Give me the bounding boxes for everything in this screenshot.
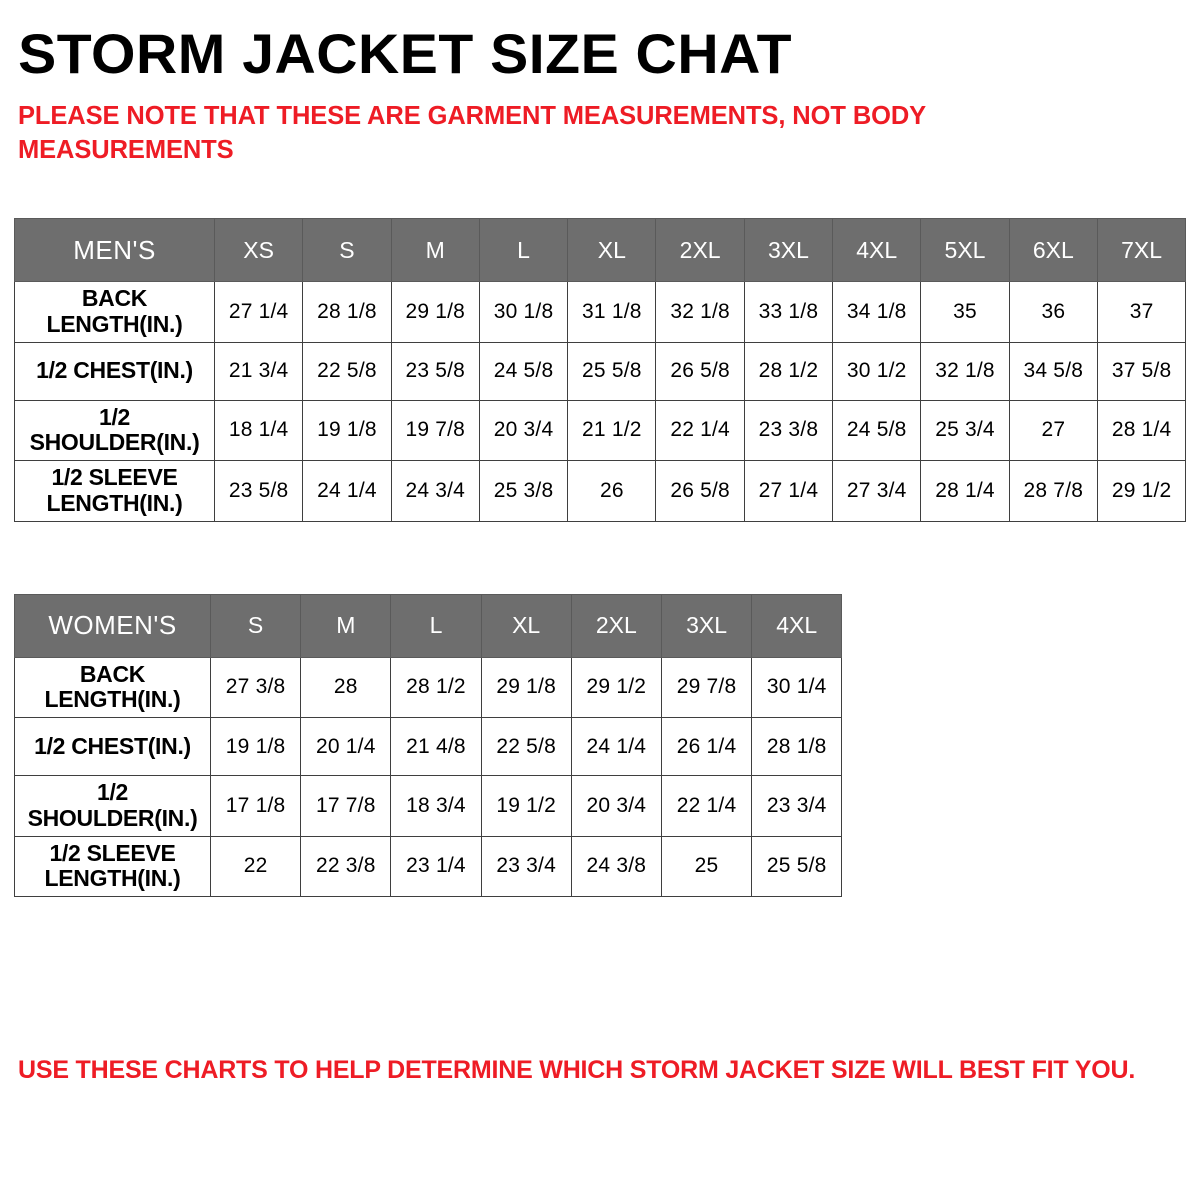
cell: 25 5/8	[752, 836, 842, 897]
cell: 36	[1009, 282, 1097, 343]
cell: 19 1/8	[211, 718, 301, 776]
cell: 29 1/2	[571, 657, 661, 718]
womens-table-body: BACK LENGTH(IN.) 27 3/8 28 28 1/2 29 1/8…	[15, 657, 842, 897]
mens-size-col-5xl: 5XL	[921, 219, 1009, 282]
mens-table-header: MEN'S XS S M L XL 2XL 3XL 4XL 5XL 6XL 7X…	[15, 219, 1186, 282]
womens-row-label-back-length: BACK LENGTH(IN.)	[15, 657, 211, 718]
womens-table-header: WOMEN'S S M L XL 2XL 3XL 4XL	[15, 594, 842, 657]
cell: 28 7/8	[1009, 461, 1097, 522]
cell: 23 3/4	[481, 836, 571, 897]
womens-row-label-half-sleeve-length: 1/2 SLEEVE LENGTH(IN.)	[15, 836, 211, 897]
row-label-line-2: LENGTH(IN.)	[45, 686, 181, 712]
footer-note: USE THESE CHARTS TO HELP DETERMINE WHICH…	[18, 1056, 1135, 1085]
table-row: 1/2 SLEEVE LENGTH(IN.) 22 22 3/8 23 1/4 …	[15, 836, 842, 897]
page-title: STORM JACKET SIZE CHAT	[14, 0, 1200, 86]
cell: 26 1/4	[661, 718, 751, 776]
table-row: BACK LENGTH(IN.) 27 1/4 28 1/8 29 1/8 30…	[15, 282, 1186, 343]
cell: 18 3/4	[391, 776, 481, 837]
cell: 24 3/4	[391, 461, 479, 522]
table-row: 1/2 SLEEVE LENGTH(IN.) 23 5/8 24 1/4 24 …	[15, 461, 1186, 522]
cell: 22 5/8	[481, 718, 571, 776]
womens-size-col-l: L	[391, 594, 481, 657]
womens-size-table: WOMEN'S S M L XL 2XL 3XL 4XL BACK LENGTH…	[14, 594, 842, 898]
cell: 31 1/8	[568, 282, 656, 343]
cell: 23 5/8	[391, 342, 479, 400]
mens-row-label-back-length: BACK LENGTH(IN.)	[15, 282, 215, 343]
cell: 19 7/8	[391, 400, 479, 461]
cell: 17 1/8	[211, 776, 301, 837]
row-label-line-1: 1/2 SLEEVE	[49, 840, 175, 866]
cell: 23 3/4	[752, 776, 842, 837]
mens-size-col-4xl: 4XL	[833, 219, 921, 282]
womens-size-col-xl: XL	[481, 594, 571, 657]
cell: 21 4/8	[391, 718, 481, 776]
womens-size-col-3xl: 3XL	[661, 594, 751, 657]
cell: 29 1/8	[481, 657, 571, 718]
cell: 29 1/8	[391, 282, 479, 343]
cell: 23 3/8	[744, 400, 832, 461]
table-row: BACK LENGTH(IN.) 27 3/8 28 28 1/2 29 1/8…	[15, 657, 842, 718]
cell: 25 3/8	[479, 461, 567, 522]
cell: 28 1/2	[391, 657, 481, 718]
cell: 20 1/4	[301, 718, 391, 776]
row-label-line-1: 1/2 SLEEVE	[51, 464, 177, 490]
mens-size-col-m: M	[391, 219, 479, 282]
cell: 28 1/4	[921, 461, 1009, 522]
cell: 27 1/4	[215, 282, 303, 343]
mens-row-label-half-chest: 1/2 CHEST(IN.)	[15, 342, 215, 400]
cell: 22 1/4	[656, 400, 744, 461]
cell: 23 5/8	[215, 461, 303, 522]
mens-row-label-half-sleeve-length: 1/2 SLEEVE LENGTH(IN.)	[15, 461, 215, 522]
cell: 28 1/8	[752, 718, 842, 776]
cell: 20 3/4	[571, 776, 661, 837]
cell: 22 5/8	[303, 342, 391, 400]
cell: 30 1/4	[752, 657, 842, 718]
cell: 28	[301, 657, 391, 718]
table-row: 1/2 CHEST(IN.) 19 1/8 20 1/4 21 4/8 22 5…	[15, 718, 842, 776]
cell: 28 1/8	[303, 282, 391, 343]
womens-size-col-2xl: 2XL	[571, 594, 661, 657]
cell: 32 1/8	[921, 342, 1009, 400]
mens-size-col-xs: XS	[215, 219, 303, 282]
cell: 30 1/2	[833, 342, 921, 400]
cell: 25	[661, 836, 751, 897]
womens-size-col-s: S	[211, 594, 301, 657]
cell: 37	[1097, 282, 1185, 343]
cell: 28 1/2	[744, 342, 832, 400]
cell: 20 3/4	[479, 400, 567, 461]
cell: 35	[921, 282, 1009, 343]
cell: 24 5/8	[479, 342, 567, 400]
cell: 27 1/4	[744, 461, 832, 522]
cell: 24 1/4	[303, 461, 391, 522]
cell: 28 1/4	[1097, 400, 1185, 461]
table-row: 1/2 CHEST(IN.) 21 3/4 22 5/8 23 5/8 24 5…	[15, 342, 1186, 400]
cell: 33 1/8	[744, 282, 832, 343]
mens-size-col-xl: XL	[568, 219, 656, 282]
womens-size-col-m: M	[301, 594, 391, 657]
cell: 29 1/2	[1097, 461, 1185, 522]
row-label-line-2: LENGTH(IN.)	[47, 490, 183, 516]
cell: 32 1/8	[656, 282, 744, 343]
garment-measurement-note: PLEASE NOTE THAT THESE ARE GARMENT MEASU…	[18, 100, 978, 168]
cell: 30 1/8	[479, 282, 567, 343]
cell: 29 7/8	[661, 657, 751, 718]
cell: 24 5/8	[833, 400, 921, 461]
cell: 26	[568, 461, 656, 522]
cell: 34 1/8	[833, 282, 921, 343]
cell: 25 3/4	[921, 400, 1009, 461]
cell: 27 3/4	[833, 461, 921, 522]
cell: 27 3/8	[211, 657, 301, 718]
cell: 26 5/8	[656, 342, 744, 400]
womens-size-col-4xl: 4XL	[752, 594, 842, 657]
mens-table-body: BACK LENGTH(IN.) 27 1/4 28 1/8 29 1/8 30…	[15, 282, 1186, 522]
womens-row-label-half-chest: 1/2 CHEST(IN.)	[15, 718, 211, 776]
table-row: 1/2 SHOULDER(IN.) 18 1/4 19 1/8 19 7/8 2…	[15, 400, 1186, 461]
cell: 24 3/8	[571, 836, 661, 897]
cell: 21 3/4	[215, 342, 303, 400]
mens-header-row: MEN'S XS S M L XL 2XL 3XL 4XL 5XL 6XL 7X…	[15, 219, 1186, 282]
cell: 26 5/8	[656, 461, 744, 522]
cell: 22 3/8	[301, 836, 391, 897]
cell: 17 7/8	[301, 776, 391, 837]
mens-size-table: MEN'S XS S M L XL 2XL 3XL 4XL 5XL 6XL 7X…	[14, 218, 1186, 522]
mens-table-corner-label: MEN'S	[15, 219, 215, 282]
cell: 25 5/8	[568, 342, 656, 400]
mens-size-col-7xl: 7XL	[1097, 219, 1185, 282]
cell: 22	[211, 836, 301, 897]
cell: 23 1/4	[391, 836, 481, 897]
cell: 27	[1009, 400, 1097, 461]
cell: 34 5/8	[1009, 342, 1097, 400]
cell: 18 1/4	[215, 400, 303, 461]
womens-header-row: WOMEN'S S M L XL 2XL 3XL 4XL	[15, 594, 842, 657]
mens-size-col-l: L	[479, 219, 567, 282]
cell: 19 1/8	[303, 400, 391, 461]
cell: 19 1/2	[481, 776, 571, 837]
row-label-line-1: BACK	[80, 661, 145, 687]
cell: 37 5/8	[1097, 342, 1185, 400]
cell: 21 1/2	[568, 400, 656, 461]
cell: 22 1/4	[661, 776, 751, 837]
row-label-line-1: BACK	[82, 285, 147, 311]
womens-table-corner-label: WOMEN'S	[15, 594, 211, 657]
cell: 24 1/4	[571, 718, 661, 776]
mens-size-col-2xl: 2XL	[656, 219, 744, 282]
mens-size-col-s: S	[303, 219, 391, 282]
table-row: 1/2 SHOULDER(IN.) 17 1/8 17 7/8 18 3/4 1…	[15, 776, 842, 837]
mens-row-label-half-shoulder: 1/2 SHOULDER(IN.)	[15, 400, 215, 461]
row-label-line-2: LENGTH(IN.)	[45, 865, 181, 891]
row-label-line-2: LENGTH(IN.)	[47, 311, 183, 337]
womens-row-label-half-shoulder: 1/2 SHOULDER(IN.)	[15, 776, 211, 837]
size-chart-page: STORM JACKET SIZE CHAT PLEASE NOTE THAT …	[0, 0, 1200, 1200]
mens-size-col-6xl: 6XL	[1009, 219, 1097, 282]
mens-size-col-3xl: 3XL	[744, 219, 832, 282]
